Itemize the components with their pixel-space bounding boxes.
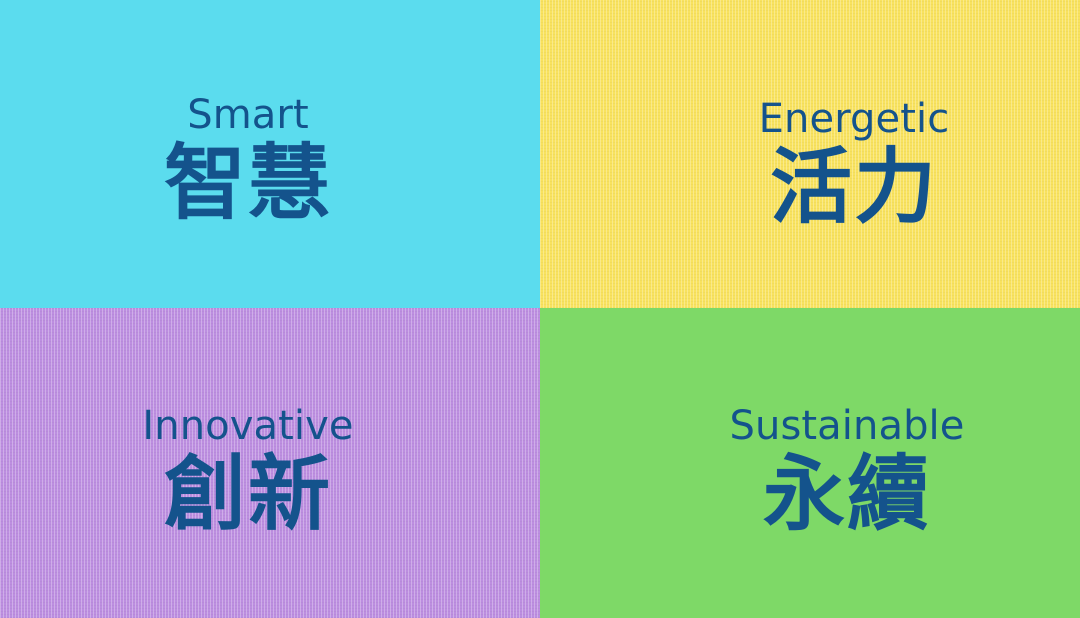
panel-sustainable-english-label: Sustainable [730, 406, 965, 446]
quadrant-grid: Smart 智慧 Energetic 活力 Innovative 創新 Sust… [0, 0, 1080, 618]
panel-energetic-chinese-label: 活力 [759, 147, 950, 229]
wordmark-energetic: Energetic 活力 [759, 99, 950, 229]
wordmark-sustainable: Sustainable 永續 [730, 406, 965, 536]
wordmark-innovative: Innovative 創新 [142, 406, 353, 536]
panel-energetic-english-label: Energetic [759, 99, 950, 139]
brand-values-graphic: Smart 智慧 Energetic 活力 Innovative 創新 Sust… [0, 0, 1080, 618]
panel-smart[interactable]: Smart 智慧 [0, 0, 540, 308]
panel-energetic[interactable]: Energetic 活力 [540, 0, 1080, 308]
panel-innovative[interactable]: Innovative 創新 [0, 308, 540, 618]
panel-sustainable-chinese-label: 永續 [730, 454, 965, 536]
wordmark-smart: Smart 智慧 [164, 95, 332, 225]
panel-sustainable[interactable]: Sustainable 永續 [540, 308, 1080, 618]
panel-innovative-chinese-label: 創新 [142, 454, 353, 536]
panel-smart-english-label: Smart [164, 95, 332, 135]
panel-smart-chinese-label: 智慧 [164, 143, 332, 225]
panel-innovative-english-label: Innovative [142, 406, 353, 446]
